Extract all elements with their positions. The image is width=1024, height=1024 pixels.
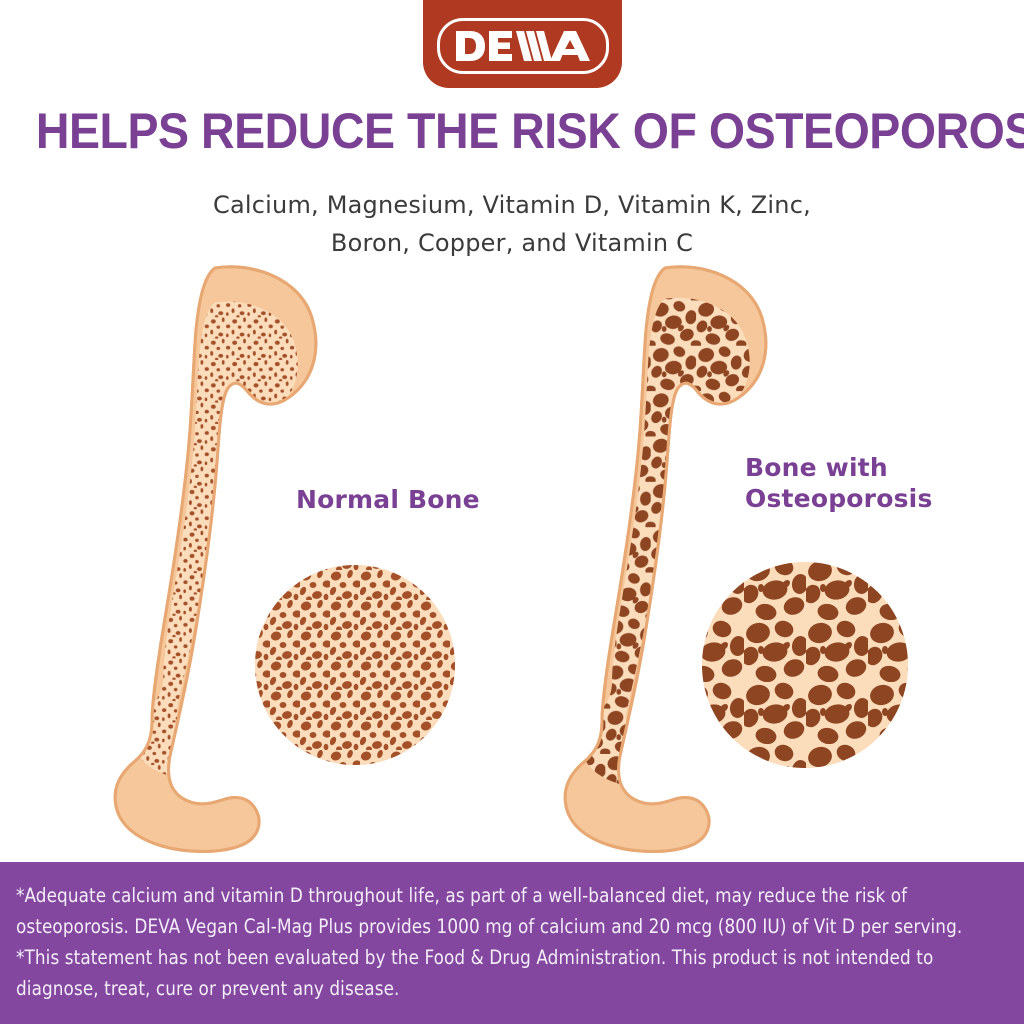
logo-pill-outline [437, 18, 609, 74]
page-title: HELPS REDUCE THE RISK OF OSTEOPOROSIS* [36, 102, 988, 160]
disclaimer-text: *Adequate calcium and vitamin D througho… [16, 880, 968, 1004]
logo-wordmark-deva [454, 29, 592, 63]
ingredients-subtitle: Calcium, Magnesium, Vitamin D, Vitamin K… [0, 186, 1024, 262]
osteoporosis-label-line-2: Osteoporosis [745, 483, 933, 514]
normal-bone-illustration [115, 267, 316, 852]
infographic-page: HELPS REDUCE THE RISK OF OSTEOPOROSIS* C… [0, 0, 1024, 1024]
osteoporosis-bone-label: Bone with Osteoporosis [745, 452, 933, 514]
subtitle-line-2: Boron, Copper, and Vitamin C [0, 224, 1024, 262]
disclaimer-banner: *Adequate calcium and vitamin D througho… [0, 862, 1024, 1024]
normal-bone-label: Normal Bone [296, 484, 480, 515]
osteoporotic-bone-detail-circle [698, 558, 916, 776]
normal-bone-detail-circle [250, 560, 465, 775]
normal-bone-label-text: Normal Bone [296, 484, 480, 515]
osteoporosis-label-line-1: Bone with [745, 452, 933, 483]
deva-logo [423, 0, 622, 88]
subtitle-line-1: Calcium, Magnesium, Vitamin D, Vitamin K… [0, 186, 1024, 224]
osteoporotic-bone-illustration [565, 267, 766, 852]
